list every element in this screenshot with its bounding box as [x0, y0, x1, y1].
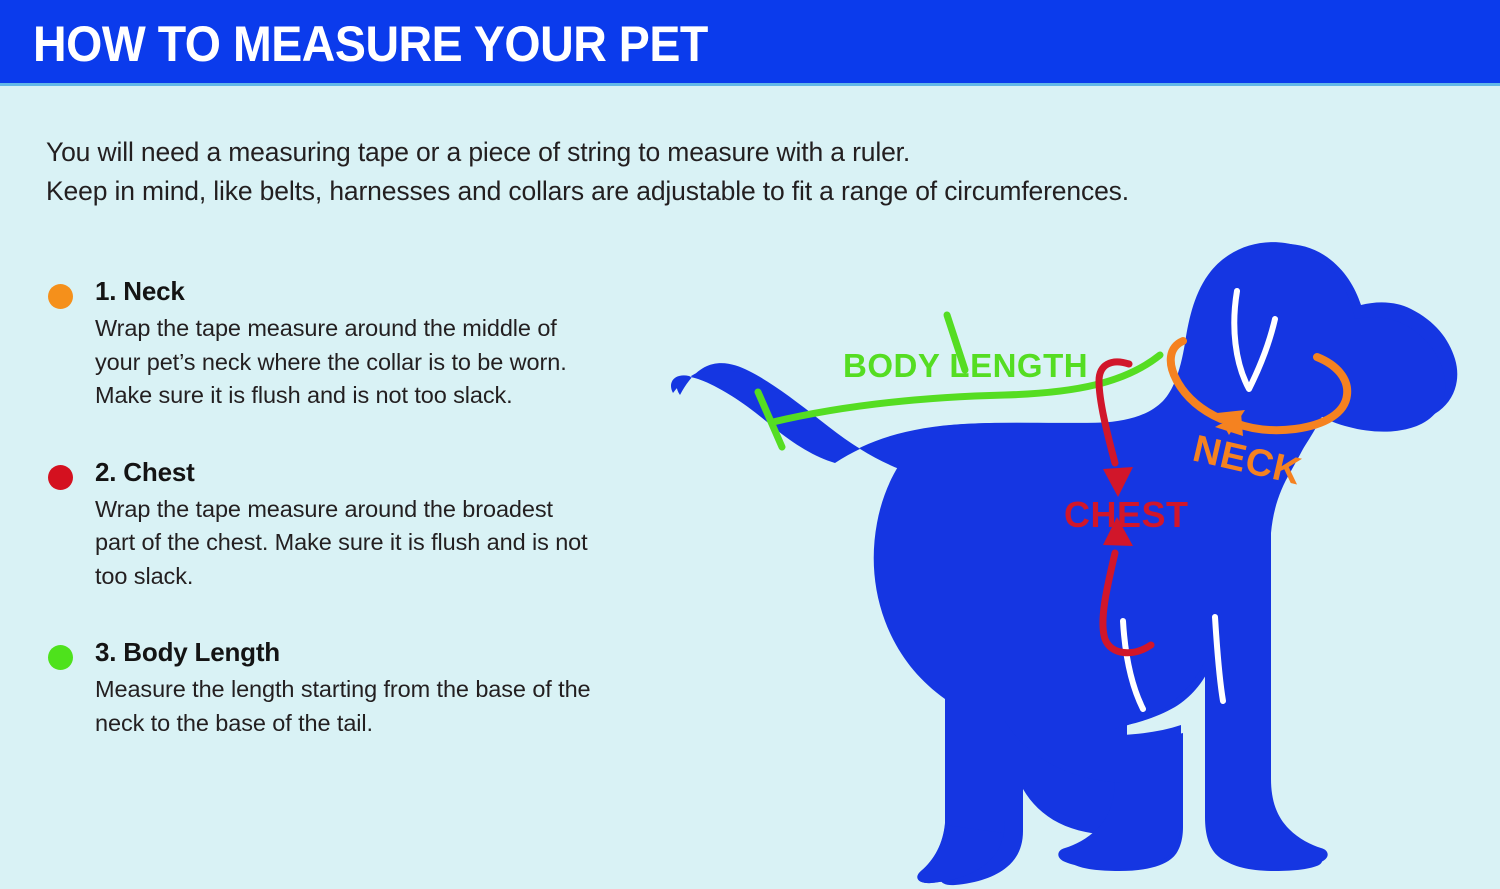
- header-bar: HOW TO MEASURE YOUR PET: [0, 0, 1500, 86]
- step-title-neck: 1. Neck: [95, 272, 664, 310]
- page-title: HOW TO MEASURE YOUR PET: [33, 18, 708, 70]
- bullet-chest-icon: [48, 465, 73, 490]
- step-body-neck: Wrap the tape measure around the middle …: [95, 312, 664, 413]
- dog-measurement-diagram: BODY LENGTH NECK CHEST: [655, 235, 1500, 889]
- bullet-neck-icon: [48, 284, 73, 309]
- bullet-body-length-icon: [48, 645, 73, 670]
- step-body-line: Wrap the tape measure around the middle …: [95, 312, 664, 346]
- body-length-label: BODY LENGTH: [843, 347, 1088, 384]
- intro-paragraph: You will need a measuring tape or a piec…: [46, 133, 1366, 211]
- step-title-chest: 2. Chest: [95, 453, 664, 491]
- step-body-body-length: Measure the length starting from the bas…: [95, 673, 664, 740]
- step-body-line: too slack.: [95, 560, 664, 594]
- step-item-neck: 1. Neck Wrap the tape measure around the…: [44, 272, 664, 413]
- intro-line-2: Keep in mind, like belts, harnesses and …: [46, 172, 1366, 211]
- intro-line-1: You will need a measuring tape or a piec…: [46, 133, 1366, 172]
- step-body-line: Wrap the tape measure around the broades…: [95, 493, 664, 527]
- step-body-chest: Wrap the tape measure around the broades…: [95, 493, 664, 594]
- measurement-steps-list: 1. Neck Wrap the tape measure around the…: [44, 272, 664, 770]
- step-item-chest: 2. Chest Wrap the tape measure around th…: [44, 453, 664, 594]
- chest-label: CHEST: [1064, 494, 1189, 535]
- step-body-line: your pet’s neck where the collar is to b…: [95, 346, 664, 380]
- step-body-line: part of the chest. Make sure it is flush…: [95, 526, 664, 560]
- step-body-line: Make sure it is flush and is not too sla…: [95, 379, 664, 413]
- step-body-line: Measure the length starting from the bas…: [95, 673, 664, 707]
- step-body-line: neck to the base of the tail.: [95, 707, 664, 741]
- step-title-body-length: 3. Body Length: [95, 633, 664, 671]
- step-item-body-length: 3. Body Length Measure the length starti…: [44, 633, 664, 740]
